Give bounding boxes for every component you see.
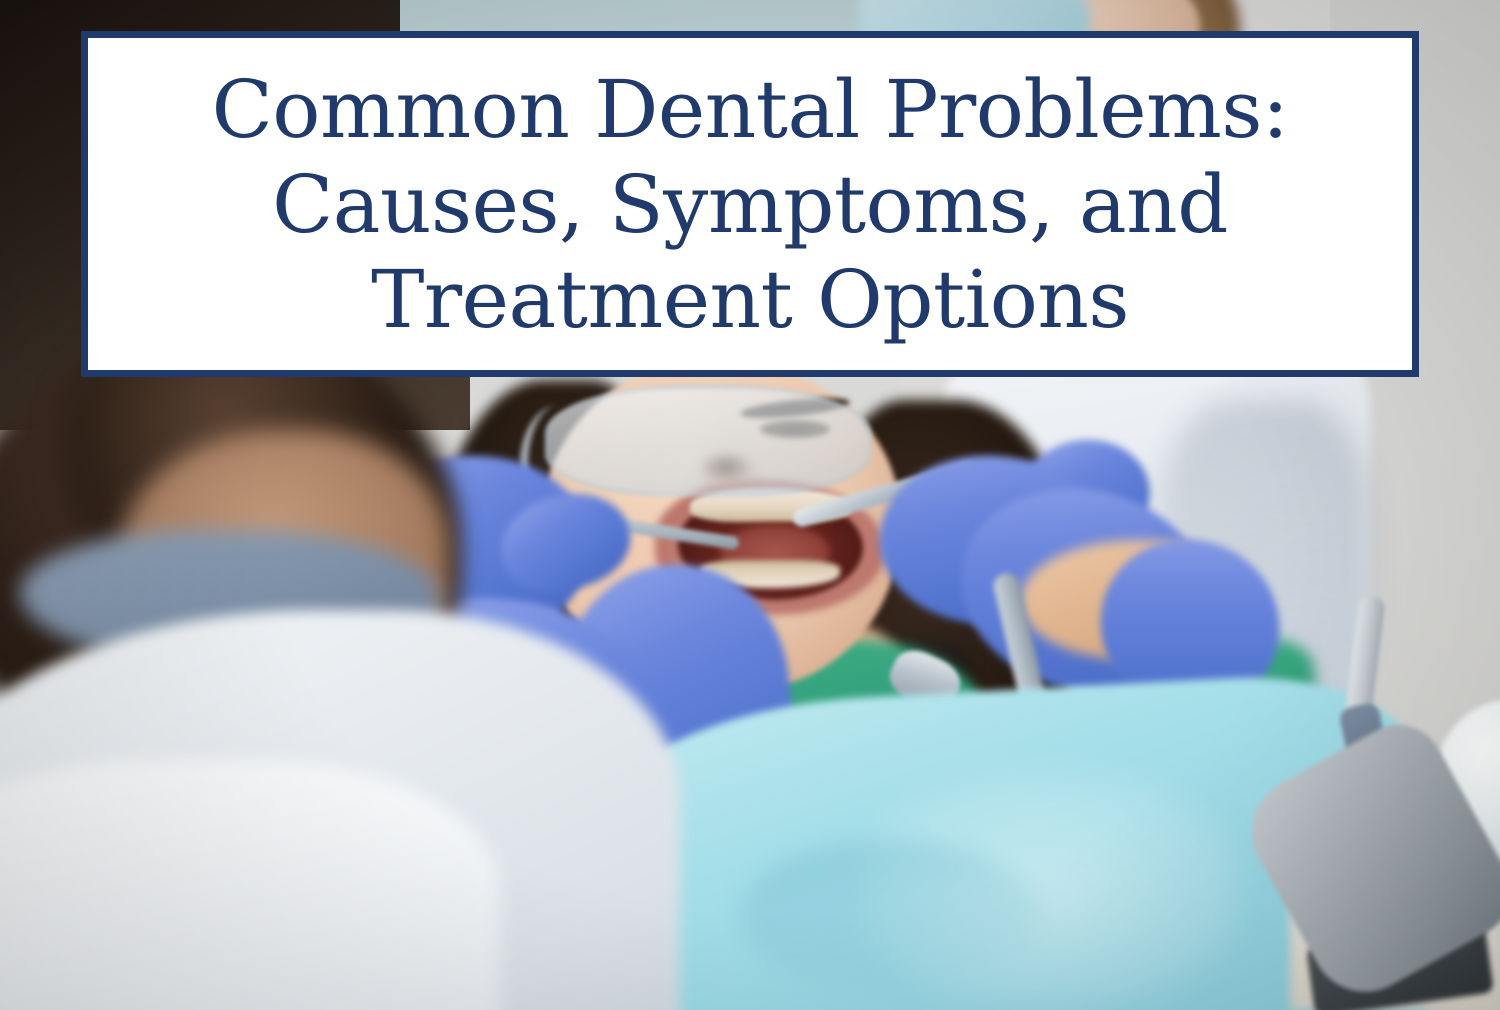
title-line-2: Causes, Symptoms, and: [88, 157, 1412, 252]
header-graphic: Common Dental Problems: Causes, Symptoms…: [0, 0, 1500, 1010]
title-line-3: Treatment Options: [88, 252, 1412, 347]
patient-bib-fold: [740, 840, 1040, 990]
title-card: Common Dental Problems: Causes, Symptoms…: [81, 31, 1419, 377]
title-line-1: Common Dental Problems:: [88, 62, 1412, 157]
dentist-lab-coat-shoulder: [0, 760, 500, 1010]
